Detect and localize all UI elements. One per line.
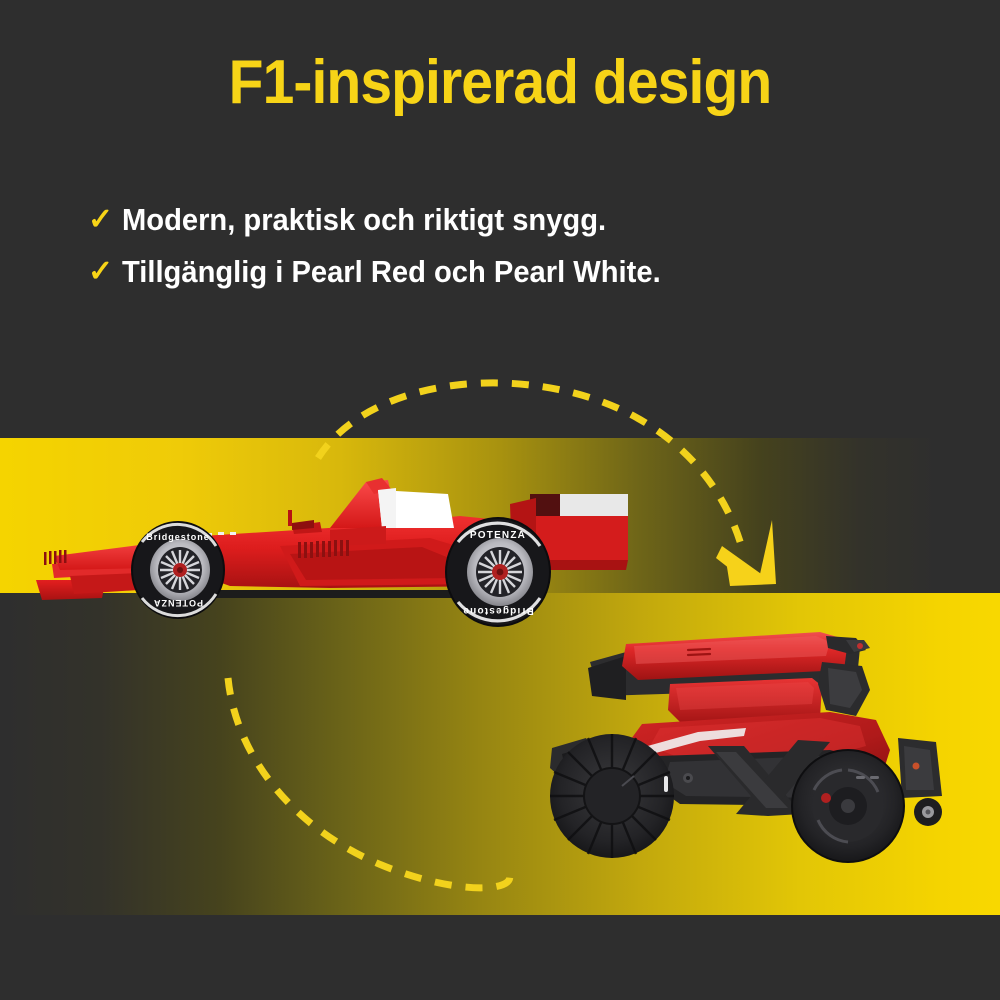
promo-banner: F1-inspirerad design ✓ Modern, praktisk … — [0, 0, 1000, 1000]
arrow-overlay — [0, 0, 1000, 1000]
dashed-arc-swoop — [228, 678, 510, 888]
dashed-arc-arrow-down-right — [318, 383, 742, 548]
